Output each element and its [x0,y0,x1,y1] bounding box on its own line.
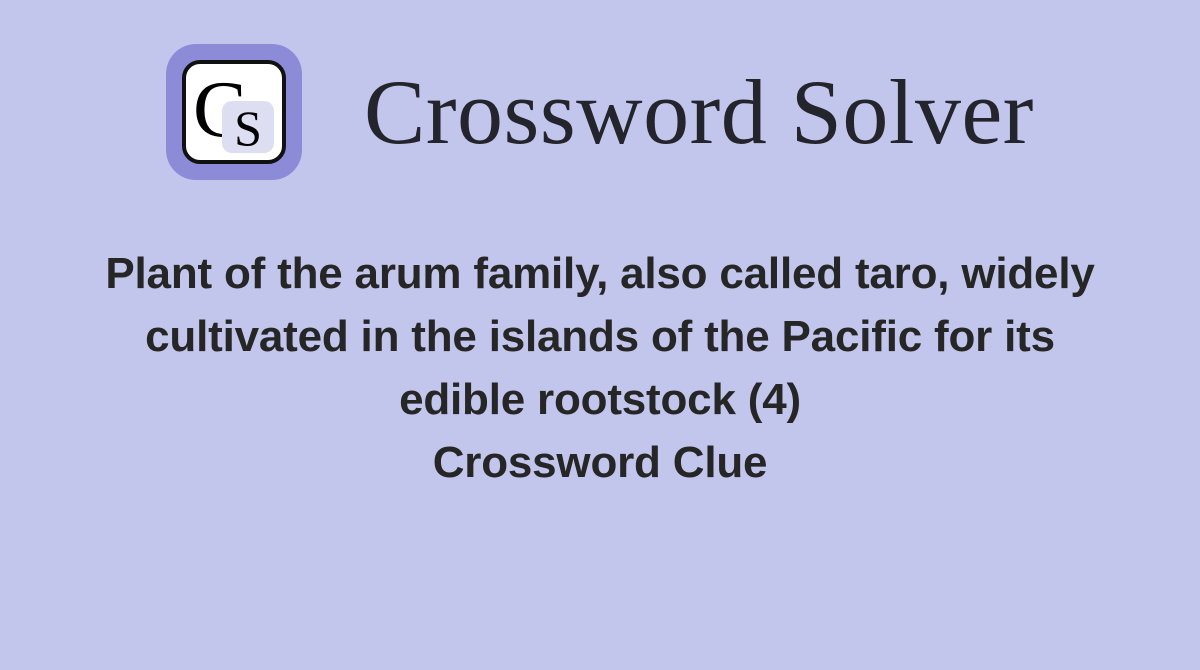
clue-question-text: Plant of the arum family, also called ta… [105,249,1094,424]
logo-inner-tile: C S [182,60,286,164]
crossword-solver-logo-icon[interactable]: C S [166,44,302,180]
clue-label-suffix: Crossword Clue [100,431,1100,494]
page-title: Plant of the arum family, also called ta… [100,242,1100,494]
page-container: C S Crossword Solver Plant of the arum f… [0,0,1200,670]
site-branding[interactable]: C S Crossword Solver [166,44,1034,180]
logo-letter-s-tile: S [222,101,274,153]
site-title[interactable]: Crossword Solver [364,66,1034,158]
logo-letter-s: S [222,101,274,153]
